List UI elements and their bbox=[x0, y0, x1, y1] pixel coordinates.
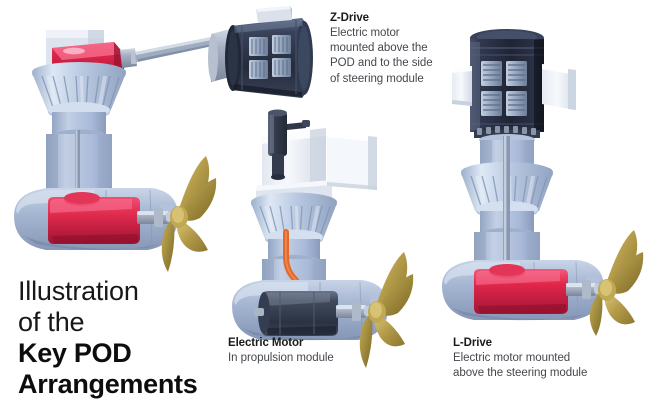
callout-l-drive: L-Drive Electric motor mounted above the… bbox=[453, 336, 587, 381]
callout-l-drive-line-2: above the steering module bbox=[453, 366, 587, 381]
em-side-cabinet bbox=[327, 131, 377, 190]
callout-z-drive-line-3: POD and to the side bbox=[330, 56, 433, 71]
zd-electric-motor bbox=[225, 6, 313, 98]
callout-z-drive-line-1: Electric motor bbox=[330, 26, 433, 41]
callout-z-drive-body: Electric motor mounted above the POD and… bbox=[330, 26, 433, 87]
page-title: Illustration of the Key POD Arrangements bbox=[18, 276, 197, 400]
page-title-line-1: Illustration bbox=[18, 276, 197, 307]
callout-z-drive-line-4: of steering module bbox=[330, 72, 433, 87]
callout-z-drive-line-2: mounted above the bbox=[330, 41, 433, 56]
ld-left-cabinet bbox=[452, 66, 472, 106]
callout-l-drive-line-1: Electric motor mounted bbox=[453, 351, 587, 366]
callout-l-drive-heading: L-Drive bbox=[453, 336, 587, 351]
page-title-line-4: Arrangements bbox=[18, 369, 197, 400]
em-submerged-motor bbox=[254, 291, 338, 336]
zd-reduction-gearbox bbox=[48, 192, 140, 244]
page-title-line-3: Key POD bbox=[18, 338, 197, 369]
zd-motor-terminal-box bbox=[256, 6, 292, 23]
page-title-line-2: of the bbox=[18, 307, 197, 338]
illustration-canvas: Z-Drive Electric motor mounted above the… bbox=[0, 0, 660, 414]
l-drive-assembly bbox=[436, 24, 658, 336]
callout-electric-motor-line-1: In propulsion module bbox=[228, 351, 334, 366]
callout-z-drive: Z-Drive Electric motor mounted above the… bbox=[330, 11, 433, 87]
zd-shaft-coupling bbox=[120, 48, 137, 68]
callout-electric-motor: Electric Motor In propulsion module bbox=[228, 336, 334, 366]
em-steering-module bbox=[251, 193, 337, 268]
electric-motor-assembly bbox=[210, 106, 410, 336]
callout-z-drive-heading: Z-Drive bbox=[330, 11, 433, 26]
callout-l-drive-body: Electric motor mounted above the steerin… bbox=[453, 351, 587, 381]
callout-electric-motor-body: In propulsion module bbox=[228, 351, 334, 366]
ld-electric-motor bbox=[452, 29, 576, 132]
ld-right-cabinet bbox=[542, 64, 576, 110]
ld-bevel-gearbox bbox=[474, 264, 568, 314]
callout-electric-motor-heading: Electric Motor bbox=[228, 336, 334, 351]
